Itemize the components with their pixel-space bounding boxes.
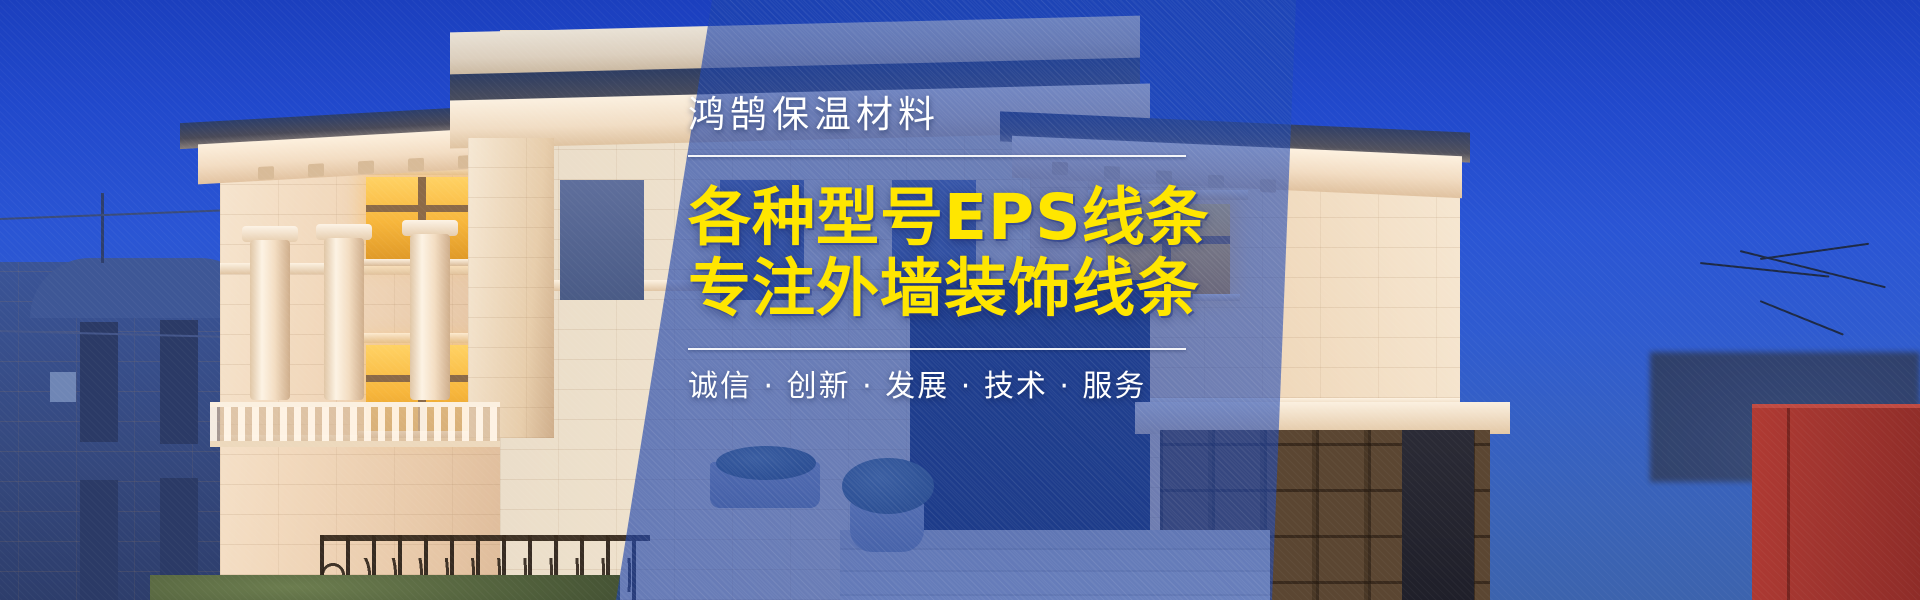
portico-column xyxy=(324,238,364,400)
cornice-dentil xyxy=(308,163,324,177)
banner-copy: 鸿鹄保温材料 各种型号EPS线条 专注外墙装饰线条 诚信 · 创新 · 发展 ·… xyxy=(688,96,1208,402)
cornice-dentil xyxy=(258,166,274,180)
stone-joint-texture xyxy=(468,138,554,438)
garage-side-recess xyxy=(1402,430,1474,600)
window-transom xyxy=(366,205,478,212)
portico-column xyxy=(410,234,450,400)
headline: 各种型号EPS线条 专注外墙装饰线条 xyxy=(688,183,1208,324)
tagline: 诚信 · 创新 · 发展 · 技术 · 服务 xyxy=(688,372,1208,402)
cornice-dentil xyxy=(358,161,374,175)
headline-line-2: 专注外墙装饰线条 xyxy=(688,254,1208,325)
background-spire xyxy=(101,193,104,263)
background-window-lit xyxy=(50,372,76,402)
background-window xyxy=(80,322,118,442)
red-wall xyxy=(1752,408,1920,600)
hedge xyxy=(150,575,620,600)
red-wall-seam xyxy=(1787,408,1790,600)
divider-bottom xyxy=(688,348,1186,350)
window xyxy=(560,180,644,300)
balustrade xyxy=(210,402,500,447)
hero-banner: 鸿鹄保温材料 各种型号EPS线条 专注外墙装饰线条 诚信 · 创新 · 发展 ·… xyxy=(0,0,1920,600)
divider-top xyxy=(688,155,1186,157)
background-window xyxy=(80,480,118,600)
brand-name: 鸿鹄保温材料 xyxy=(688,96,1208,133)
corner-pier xyxy=(468,138,554,438)
portico-column xyxy=(250,240,290,400)
headline-line-1: 各种型号EPS线条 xyxy=(688,181,1210,254)
cornice-dentil xyxy=(408,158,424,172)
